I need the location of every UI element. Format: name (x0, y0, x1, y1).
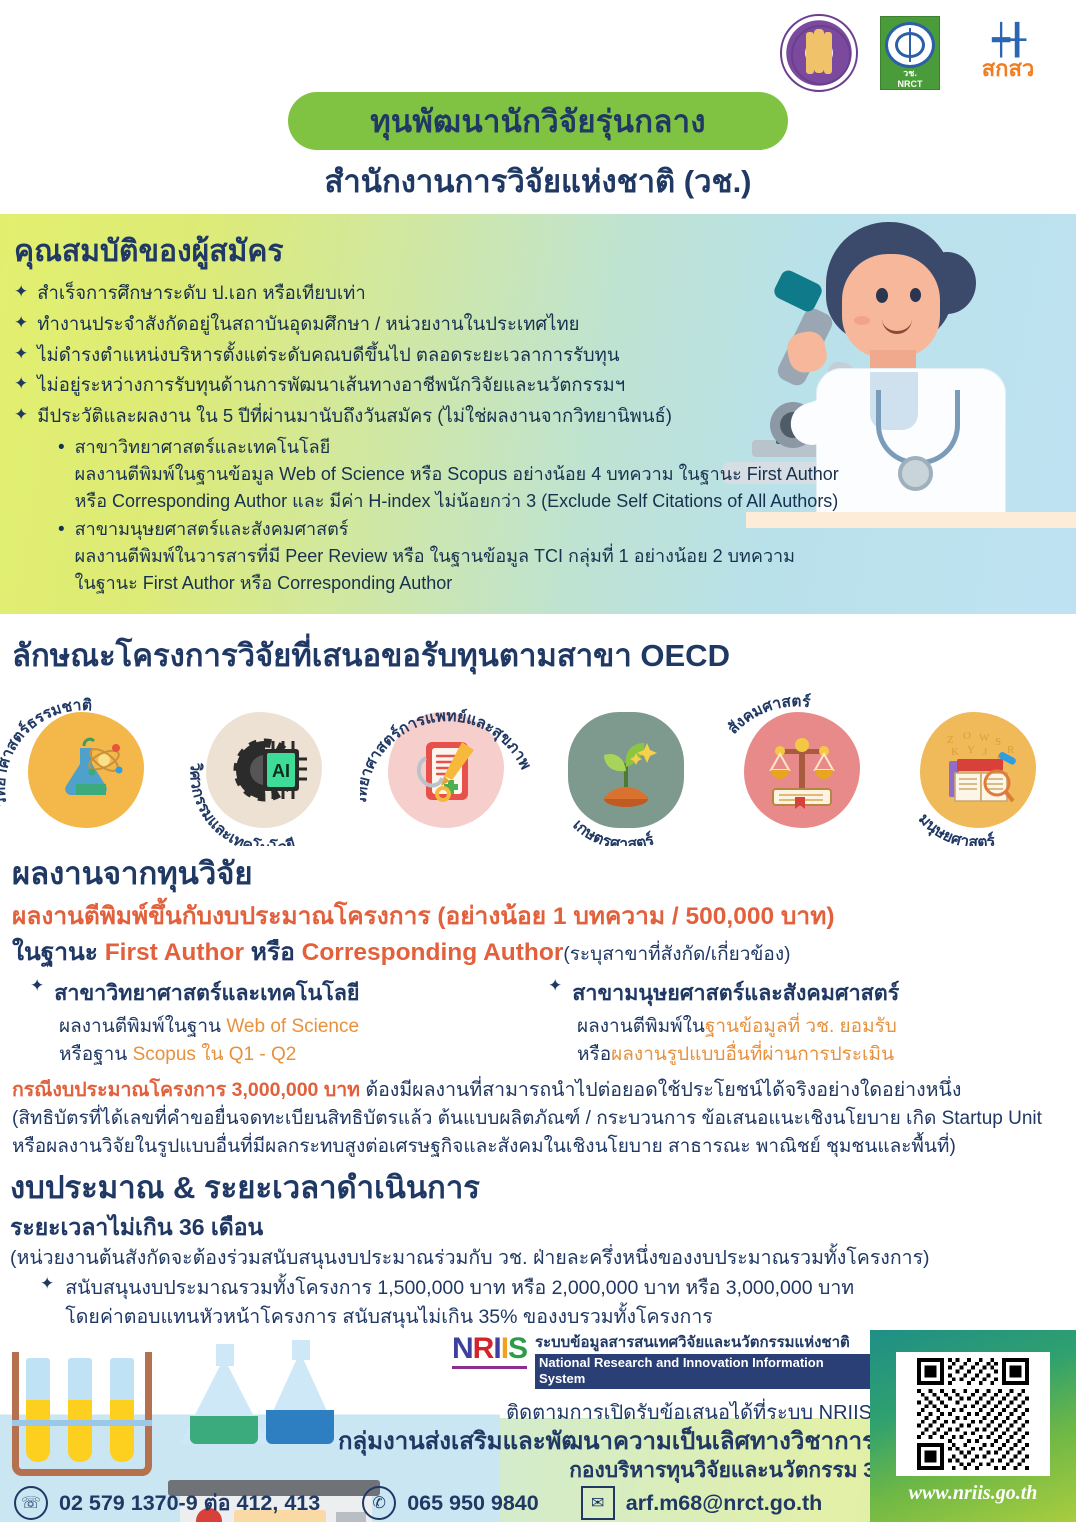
oecd-field-row: วิทยาศาสตร์ธรรมชาติ AI (0, 686, 1076, 854)
ai-chip-gear-icon: AI (206, 712, 322, 828)
qualification-sublist: • สาขาวิทยาศาสตร์และเทคโนโลยี ผลงานตีพิม… (58, 434, 844, 597)
svg-text:J: J (983, 746, 988, 758)
column-line: หรือผลงานรูปแบบอื่นที่ผ่านการประเมิน (577, 1041, 1068, 1069)
contact-email[interactable]: ✉ arf.m68@nrct.go.th (581, 1486, 823, 1520)
output-examples-line1: (สิทธิบัตรที่ได้เลขที่คำขอยื่นจดทะเบียนส… (12, 1103, 1042, 1133)
oecd-field-medical-health-sciences: วิทยาศาสตร์การแพทย์และสุขภาพ (360, 686, 538, 854)
nriis-block: NRIIS ระบบข้อมูลสารสนเทศวิจัยและนวัตกรรม… (452, 1334, 872, 1428)
svg-text:K: K (951, 746, 959, 758)
sub-line: ผลงานตีพิมพ์ในวารสารที่มี Peer Review หร… (75, 543, 795, 570)
output-authorship-rule: ในฐานะ First Author หรือ Corresponding A… (12, 932, 790, 971)
column-line: ผลงานตีพิมพ์ในฐานข้อมูลที่ วช. ยอมรับ (577, 1013, 1068, 1041)
agency-subtitle-wrap: สำนักงานการวิจัยแห่งชาติ (วช.) (0, 156, 1076, 206)
qualification-text: ไม่ดำรงตำแหน่งบริหารตั้งแต่ระดับคณบดีขึ้… (37, 342, 619, 369)
qualifications-list: ✦ สำเร็จการศึกษาระดับ ป.เอก หรือเทียบเท่… (14, 280, 844, 598)
sub-line: ในฐานะ First Author หรือ Corresponding A… (75, 570, 795, 597)
qualification-text: มีประวัติและผลงาน ใน 5 ปีที่ผ่านมานับถึง… (37, 403, 672, 430)
nriis-wordmark: NRIIS (452, 1334, 527, 1369)
research-output-section: ผลงานจากทุนวิจัย ผลงานตีพิมพ์ขึ้นกับงบปร… (0, 846, 1076, 1162)
authorship-mid: หรือ (244, 939, 302, 966)
diamond-bullet-icon: ✦ (40, 1274, 54, 1294)
column-line: ผลงานตีพิมพ์ในฐาน Web of Science (59, 1013, 530, 1041)
output-column-science: ✦ สาขาวิทยาศาสตร์และเทคโนโลยี ผลงานตีพิม… (30, 976, 530, 1068)
oecd-field-social-sciences: สังคมศาสตร์ (716, 686, 894, 854)
seedling-icon (568, 712, 684, 828)
department-line-2: กองบริหารทุนวิจัยและนวัตกรรม 3 (300, 1457, 875, 1484)
budget-heading: งบประมาณ & ระยะเวลาดำเนินการ (10, 1162, 480, 1212)
open-book-letters-icon: ZOW SRK YJQ (920, 712, 1036, 828)
list-item: • สาขามนุษยศาสตร์และสังคมศาสตร์ ผลงานตีพ… (58, 516, 844, 597)
output-heading: ผลงานจากทุนวิจัย (12, 848, 253, 898)
diamond-bullet-icon: ✦ (14, 403, 28, 428)
phone-number: 065 950 9840 (407, 1491, 539, 1516)
case-budget-amount: กรณีงบประมาณโครงการ 3,000,000 บาท (12, 1079, 360, 1101)
test-tube-rack-icon (18, 1358, 146, 1478)
column-title: สาขาวิทยาศาสตร์และเทคโนโลยี (54, 976, 359, 1010)
department-block: กลุ่มงานส่งเสริมและพัฒนาความเป็นเลิศทางว… (300, 1426, 875, 1484)
qualification-text: สำเร็จการศึกษาระดับ ป.เอก หรือเทียบเท่า (37, 280, 366, 307)
fax-number: 02 579 1370-9 ต่อ 412, 413 (59, 1486, 320, 1520)
infographic-poster: วช. NRCT ┿╂ สกสว ทุนพัฒนานักวิจัยรุ่นกลา… (0, 0, 1076, 1522)
nriis-thai-name: ระบบข้อมูลสารสนเทศวิจัยและนวัตกรรมแห่งชา… (535, 1334, 872, 1352)
nriis-logo: NRIIS ระบบข้อมูลสารสนเทศวิจัยและนวัตกรรม… (452, 1334, 872, 1389)
scales-book-icon (744, 712, 860, 828)
svg-text:R: R (1007, 744, 1015, 756)
nriis-website-url: www.nriis.go.th (870, 1482, 1076, 1505)
qr-code-image (902, 1358, 1044, 1470)
nrct-logo-th: วช. (903, 69, 917, 78)
svg-text:Y: Y (967, 744, 975, 756)
agency-subtitle: สำนักงานการวิจัยแห่งชาติ (วช.) (324, 164, 751, 199)
tsri-mark-icon: ┿╂ (992, 26, 1024, 56)
first-author-label: First Author (105, 939, 244, 966)
clipboard-stethoscope-icon (388, 712, 504, 828)
royal-seal-logo (780, 14, 858, 92)
diamond-bullet-icon: ✦ (30, 976, 44, 996)
budget-item: ✦ สนับสนุนงบประมาณรวมทั้งโครงการ 1,500,0… (40, 1274, 854, 1330)
contact-phone[interactable]: ✆ 065 950 9840 (362, 1486, 539, 1520)
list-item: ✦ มีประวัติและผลงาน ใน 5 ปีที่ผ่านมานับถ… (14, 403, 844, 430)
output-case-rule: กรณีงบประมาณโครงการ 3,000,000 บาท ต้องมี… (12, 1074, 961, 1105)
diamond-bullet-icon: ✦ (14, 342, 28, 367)
output-column-humanities: ✦ สาขามนุษยศาสตร์และสังคมศาสตร์ ผลงานตีพ… (548, 976, 1068, 1068)
oecd-field-agriculture: เกษตรศาสตร์ (540, 686, 718, 854)
sub-title: สาขาวิทยาศาสตร์และเทคโนโลยี (75, 434, 839, 461)
svg-text:AI: AI (272, 761, 290, 781)
authorship-note: (ระบุสาขาที่สังกัด/เกี่ยวข้อง) (563, 944, 790, 965)
sub-title: สาขามนุษยศาสตร์และสังคมศาสตร์ (75, 516, 795, 543)
logo-row: วช. NRCT ┿╂ สกสว (780, 14, 1054, 92)
oecd-section: ลักษณะโครงการวิจัยที่เสนอขอรับทุนตามสาขา… (0, 614, 1076, 854)
svg-text:O: O (963, 730, 971, 742)
poster-header: วช. NRCT ┿╂ สกสว ทุนพัฒนานักวิจัยรุ่นกลา… (0, 0, 1076, 214)
qr-panel: www.nriis.go.th (870, 1330, 1076, 1522)
qr-code[interactable] (896, 1352, 1050, 1476)
list-item: ✦ สำเร็จการศึกษาระดับ ป.เอก หรือเทียบเท่… (14, 280, 844, 307)
qualification-text: ไม่อยู่ระหว่างการรับทุนด้านการพัฒนาเส้นท… (37, 372, 625, 399)
list-item: ✦ ไม่อยู่ระหว่างการรับทุนด้านการพัฒนาเส้… (14, 372, 844, 399)
column-line: หรือฐาน Scopus ใน Q1 - Q2 (59, 1041, 530, 1069)
diamond-bullet-icon: ✦ (14, 280, 28, 305)
list-item: ✦ ไม่ดำรงตำแหน่งบริหารตั้งแต่ระดับคณบดีข… (14, 342, 844, 369)
poster-footer: NRIIS ระบบข้อมูลสารสนเทศวิจัยและนวัตกรรม… (0, 1330, 1076, 1522)
svg-text:Z: Z (947, 734, 954, 746)
sub-line: ผลงานตีพิมพ์ในฐานข้อมูล Web of Science ห… (75, 461, 839, 488)
budget-line: โดยค่าตอบแทนหัวหน้าโครงการ สนับสนุนไม่เก… (65, 1303, 854, 1330)
nrct-wheel-icon (885, 22, 935, 68)
budget-duration: ระยะเวลาไม่เกิน 36 เดือน (10, 1210, 263, 1246)
list-item: • สาขาวิทยาศาสตร์และเทคโนโลยี ผลงานตีพิม… (58, 434, 844, 515)
qualification-text: ทำงานประจำสังกัดอยู่ในสถาบันอุดมศึกษา / … (37, 311, 579, 338)
oecd-heading: ลักษณะโครงการวิจัยที่เสนอขอรับทุนตามสาขา… (12, 630, 730, 680)
budget-section: งบประมาณ & ระยะเวลาดำเนินการ ระยะเวลาไม่… (0, 1162, 1076, 1330)
email-icon: ✉ (581, 1486, 615, 1520)
sub-line: หรือ Corresponding Author และ มีค่า H-in… (75, 488, 839, 515)
case-rest: ต้องมีผลงานที่สามารถนำไปต่อยอดใช้ประโยชน… (360, 1079, 961, 1101)
nrct-logo: วช. NRCT (880, 16, 940, 90)
output-budget-rule: ผลงานตีพิมพ์ขึ้นกับงบประมาณโครงการ (อย่า… (12, 896, 835, 935)
diamond-bullet-icon: ✦ (14, 372, 28, 397)
email-address: arf.m68@nrct.go.th (626, 1491, 823, 1516)
flask-atom-icon (28, 712, 144, 828)
nriis-english-name: National Research and Innovation Informa… (535, 1354, 872, 1389)
contact-row: ☏ 02 579 1370-9 ต่อ 412, 413 ✆ 065 950 9… (14, 1486, 894, 1520)
svg-text:S: S (995, 736, 1001, 748)
column-title: สาขามนุษยศาสตร์และสังคมศาสตร์ (572, 976, 899, 1010)
svg-text:W: W (979, 732, 990, 744)
department-line-1: กลุ่มงานส่งเสริมและพัฒนาความเป็นเลิศทางว… (300, 1426, 875, 1457)
qualifications-heading: คุณสมบัติของผู้สมัคร (14, 228, 284, 275)
phone-icon: ✆ (362, 1486, 396, 1520)
list-item: ✦ ทำงานประจำสังกัดอยู่ในสถาบันอุดมศึกษา … (14, 311, 844, 338)
output-examples-line2: หรือผลงานวิจัยในรูปแบบอื่นที่มีผลกระทบสู… (12, 1131, 956, 1161)
diamond-bullet-icon: ✦ (14, 311, 28, 336)
diamond-bullet-icon: ✦ (548, 976, 562, 996)
oecd-field-natural-sciences: วิทยาศาสตร์ธรรมชาติ (0, 686, 178, 854)
corresponding-author-label: Corresponding Author (302, 939, 564, 966)
grant-title-pill: ทุนพัฒนานักวิจัยรุ่นกลาง (288, 92, 788, 150)
dot-bullet-icon: • (58, 434, 65, 463)
oecd-field-humanities: ZOW SRK YJQ (892, 686, 1070, 854)
budget-line: สนับสนุนงบประมาณรวมทั้งโครงการ 1,500,000… (65, 1274, 854, 1303)
oecd-field-engineering-technology: AI วิศวกรรมและเทคโนโลยี (178, 686, 356, 854)
authorship-pre: ในฐานะ (12, 939, 105, 966)
qualifications-section: คุณสมบัติของผู้สมัคร ✦ สำเร็จการศึกษาระด… (0, 214, 1076, 614)
nrct-logo-en: NRCT (898, 80, 923, 89)
nriis-follow-text: ติดตามการเปิดรับข้อเสนอได้ที่ระบบ NRIIS (452, 1396, 872, 1428)
tsri-word: สกสว (982, 58, 1035, 80)
dot-bullet-icon: • (58, 516, 65, 545)
grant-title: ทุนพัฒนานักวิจัยรุ่นกลาง (370, 96, 706, 146)
tsri-logo: ┿╂ สกสว (962, 16, 1054, 90)
contact-fax[interactable]: ☏ 02 579 1370-9 ต่อ 412, 413 (14, 1486, 320, 1520)
fax-icon: ☏ (14, 1486, 48, 1520)
budget-note: (หน่วยงานต้นสังกัดจะต้องร่วมสนับสนุนงบปร… (10, 1242, 930, 1273)
